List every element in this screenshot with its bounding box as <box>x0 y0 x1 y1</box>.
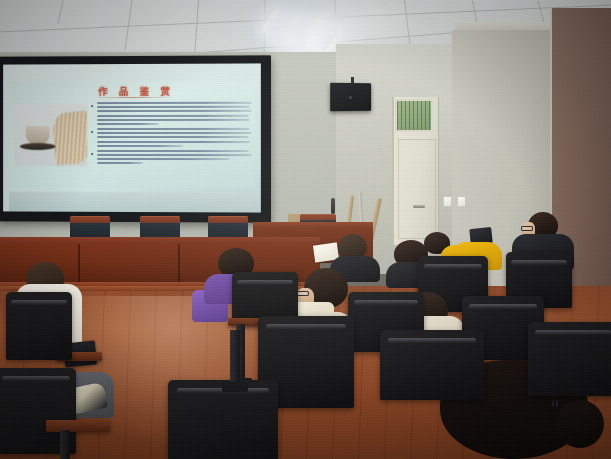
door-transom-window <box>395 99 433 132</box>
hair-bun <box>556 400 604 448</box>
seat-highlight <box>424 264 483 269</box>
auditorium-seat[interactable] <box>528 322 611 396</box>
seat-highlight <box>388 338 475 343</box>
presentation-slide: 作 品 鉴 赏 <box>8 82 256 189</box>
lecture-hall-photo: 作 品 鉴 赏 <box>0 0 611 459</box>
wall-speaker <box>330 83 371 112</box>
slide-paragraph <box>91 150 252 165</box>
projection-screen: 作 品 鉴 赏 <box>0 55 271 222</box>
seat-leg <box>60 430 70 459</box>
hair-tie <box>552 400 559 407</box>
front-table-chair-2[interactable] <box>140 216 180 238</box>
front-table-chair-3[interactable] <box>208 216 248 238</box>
auditorium-seat[interactable] <box>380 330 484 400</box>
saucer-graphic <box>20 143 56 150</box>
table-seam <box>178 244 180 286</box>
seat-foot <box>222 382 248 392</box>
microphone-stand <box>331 198 335 214</box>
door-panel <box>398 139 436 239</box>
seat-leg <box>230 330 240 386</box>
window-bars-icon <box>397 101 431 130</box>
teacup-graphic <box>26 126 50 144</box>
seat-highlight <box>266 324 347 329</box>
seat-highlight <box>237 280 292 285</box>
speaker-indicator-icon <box>349 96 352 99</box>
slide-paragraph <box>91 128 252 147</box>
front-table-chair-1[interactable] <box>70 216 110 238</box>
slide-title-underline <box>91 97 173 98</box>
door-handle[interactable] <box>413 205 425 208</box>
seat-highlight <box>2 376 69 381</box>
seat-highlight <box>511 260 566 265</box>
slide-photo <box>14 104 87 166</box>
light-switch-2[interactable] <box>457 196 466 207</box>
screen-surface: 作 品 鉴 赏 <box>3 63 261 212</box>
seat-highlight <box>535 330 611 335</box>
seat-highlight <box>354 300 418 305</box>
light-switch-1[interactable] <box>443 196 452 207</box>
slide-body-text <box>91 102 252 168</box>
seat-armrest <box>46 420 110 432</box>
table-seam <box>78 244 80 286</box>
open-book-graphic <box>51 110 87 165</box>
seat-highlight <box>11 300 66 305</box>
screen-lower-area <box>9 192 261 213</box>
slide-paragraph <box>91 102 252 125</box>
glasses-icon <box>521 226 533 231</box>
seat-highlight <box>469 304 538 309</box>
auditorium-seat[interactable] <box>6 292 72 360</box>
